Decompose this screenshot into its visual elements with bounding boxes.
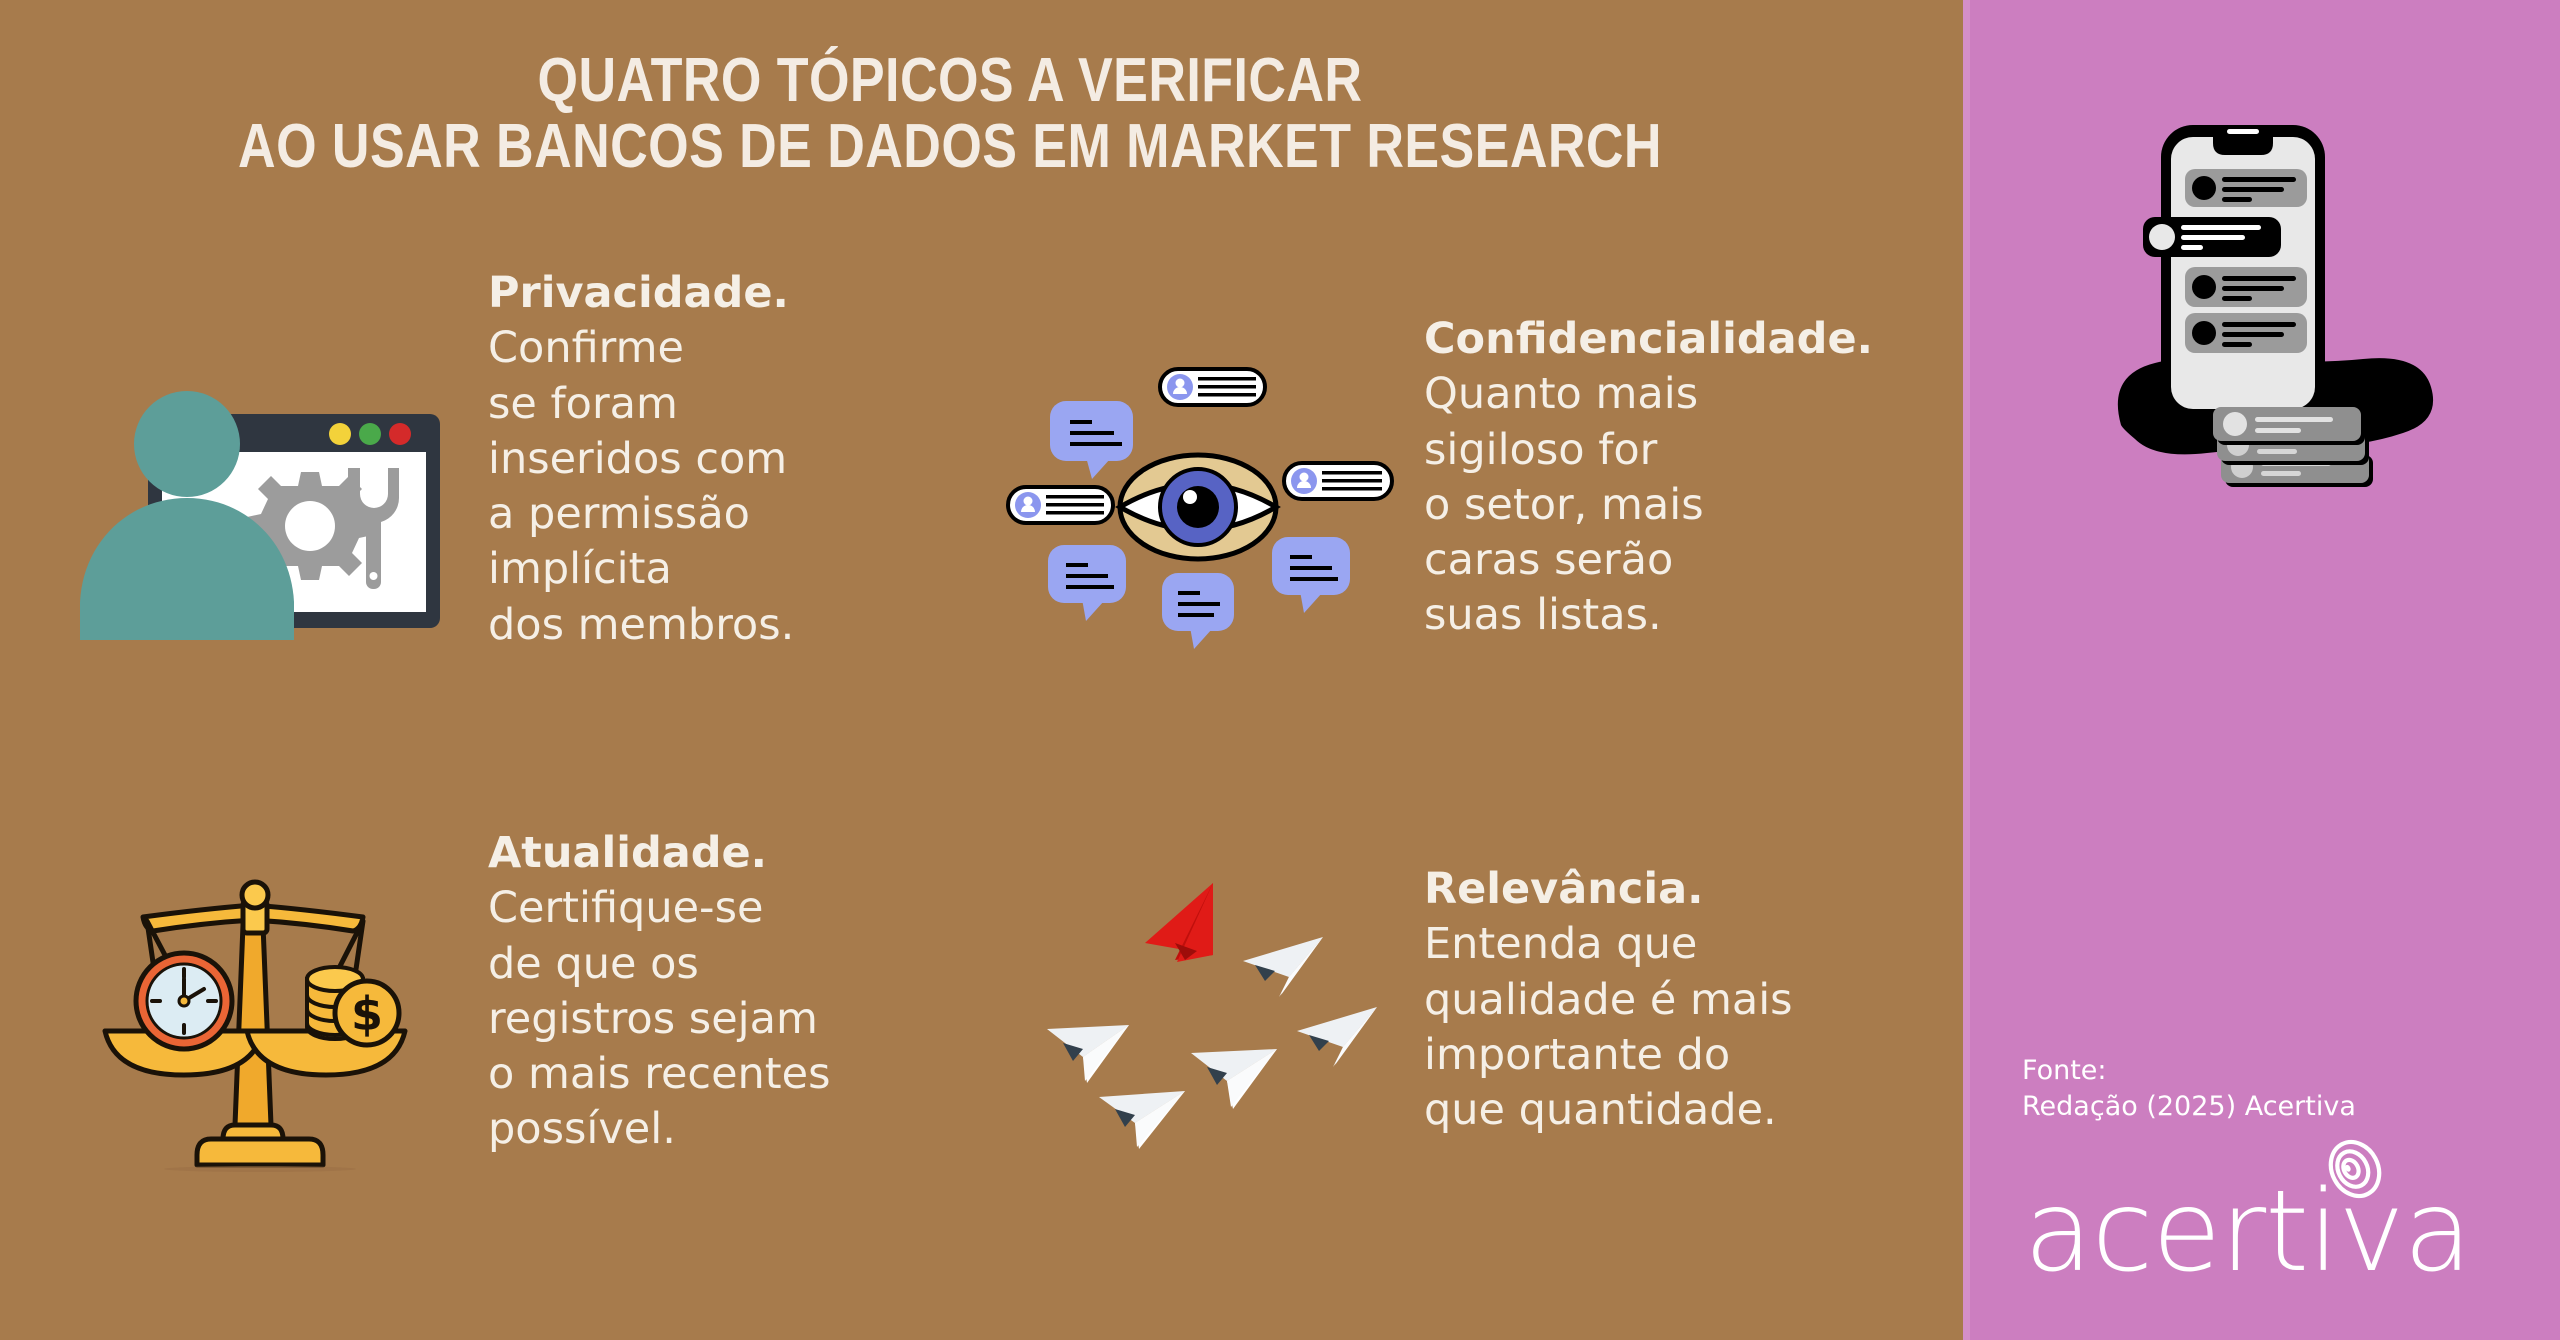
topic-privacidade-body: Confirme se foram inseridos com a permis…	[488, 321, 908, 653]
spiral-swirl-icon	[2324, 1136, 2386, 1202]
topic-line: implícita	[488, 542, 908, 597]
window-dot-green-icon	[359, 423, 381, 445]
page-title: QUATRO TÓPICOS A VERIFICAR AO USAR BANCO…	[0, 48, 1900, 181]
topic-line: sigiloso for	[1424, 423, 1844, 478]
topic-line: inseridos com	[488, 432, 908, 487]
topic-privacidade: Privacidade. Confirme se foram inseridos…	[488, 266, 908, 653]
topic-line: qualidade é mais	[1424, 973, 1894, 1028]
title-line-2: AO USAR BANCOS DE DADOS EM MARKET RESEAR…	[152, 114, 1748, 180]
topic-line: que quantidade.	[1424, 1083, 1894, 1138]
message-row	[2185, 169, 2307, 207]
topic-line: dos membros.	[488, 598, 908, 653]
topic-line: Confirme	[488, 321, 908, 376]
balance-scale-time-money-illustration: $	[95, 855, 425, 1185]
topic-line: suas listas.	[1424, 588, 1844, 643]
topic-relevancia: Relevância. Entenda que qualidade é mais…	[1424, 862, 1894, 1138]
speech-bubble-icon	[1048, 545, 1126, 621]
paper-plane-white-icon	[1191, 1049, 1277, 1109]
contact-card-icon	[1008, 487, 1113, 523]
topic-atualidade-heading: Atualidade.	[488, 826, 948, 881]
topic-line: importante do	[1424, 1028, 1894, 1083]
message-row	[2185, 313, 2307, 353]
topic-atualidade-body: Certifique-se de que os registros sejam …	[488, 881, 948, 1157]
message-row-outgoing	[2143, 217, 2281, 257]
topic-confidencialidade-body: Quanto mais sigiloso for o setor, mais c…	[1424, 367, 1844, 643]
title-line-1: QUATRO TÓPICOS A VERIFICAR	[152, 48, 1748, 114]
topic-relevancia-heading: Relevância.	[1424, 862, 1894, 917]
topic-line: registros sejam	[488, 992, 948, 1047]
source-label: Fonte:	[2022, 1053, 2356, 1089]
panel-divider	[1963, 0, 1970, 1340]
paper-plane-white-icon	[1243, 937, 1323, 997]
svg-text:$: $	[351, 987, 383, 1041]
topic-confidencialidade: Confidencialidade. Quanto mais sigiloso …	[1424, 312, 1844, 644]
window-dot-yellow-icon	[329, 423, 351, 445]
person-browser-settings-illustration	[70, 390, 440, 640]
ground-shadow	[164, 1166, 356, 1172]
eye-icon	[1120, 455, 1276, 559]
topic-line: Entenda que	[1424, 917, 1894, 972]
message-row	[2185, 267, 2307, 307]
topic-line: Quanto mais	[1424, 367, 1844, 422]
source-attribution: Fonte: Redação (2025) Acertiva	[2022, 1053, 2356, 1126]
topic-line: de que os	[488, 937, 948, 992]
paper-plane-white-icon	[1047, 1025, 1129, 1083]
infographic-canvas: QUATRO TÓPICOS A VERIFICAR AO USAR BANCO…	[0, 0, 2560, 1340]
smartphone-icon	[2143, 125, 2325, 421]
phone-contact-list-illustration	[2085, 125, 2440, 525]
paper-plane-red-icon	[1145, 883, 1213, 962]
topic-line: Certifique-se	[488, 881, 948, 936]
paper-plane-white-icon	[1297, 1007, 1377, 1067]
topic-line: caras serão	[1424, 533, 1844, 588]
paper-plane-white-icon	[1099, 1091, 1185, 1149]
topic-confidencialidade-heading: Confidencialidade.	[1424, 312, 1844, 367]
contact-card-icon	[1284, 463, 1392, 499]
topic-line: o mais recentes	[488, 1047, 948, 1102]
topic-line: se foram	[488, 377, 908, 432]
dollar-coin-icon: $	[335, 981, 399, 1045]
topic-line: possível.	[488, 1102, 948, 1157]
contact-card-icon	[1160, 369, 1265, 405]
logo-wordmark: acertiva	[2024, 1176, 2471, 1288]
topic-line: o setor, mais	[1424, 478, 1844, 533]
topic-line: a permissão	[488, 487, 908, 542]
card-stack-icon	[2213, 407, 2373, 487]
window-dot-red-icon	[389, 423, 411, 445]
topic-privacidade-heading: Privacidade.	[488, 266, 908, 321]
eye-surveillance-messages-illustration	[1000, 365, 1400, 655]
speech-bubble-icon	[1050, 401, 1133, 479]
clock-icon	[136, 953, 232, 1049]
speech-bubble-icon	[1272, 537, 1350, 613]
speech-bubble-icon	[1162, 573, 1234, 649]
source-value: Redação (2025) Acertiva	[2022, 1089, 2356, 1125]
acertiva-logo[interactable]: acertiva	[2024, 1176, 2534, 1296]
paper-planes-leadership-illustration	[1025, 865, 1395, 1175]
topic-atualidade: Atualidade. Certifique-se de que os regi…	[488, 826, 948, 1158]
topic-relevancia-body: Entenda que qualidade é mais importante …	[1424, 917, 1894, 1138]
